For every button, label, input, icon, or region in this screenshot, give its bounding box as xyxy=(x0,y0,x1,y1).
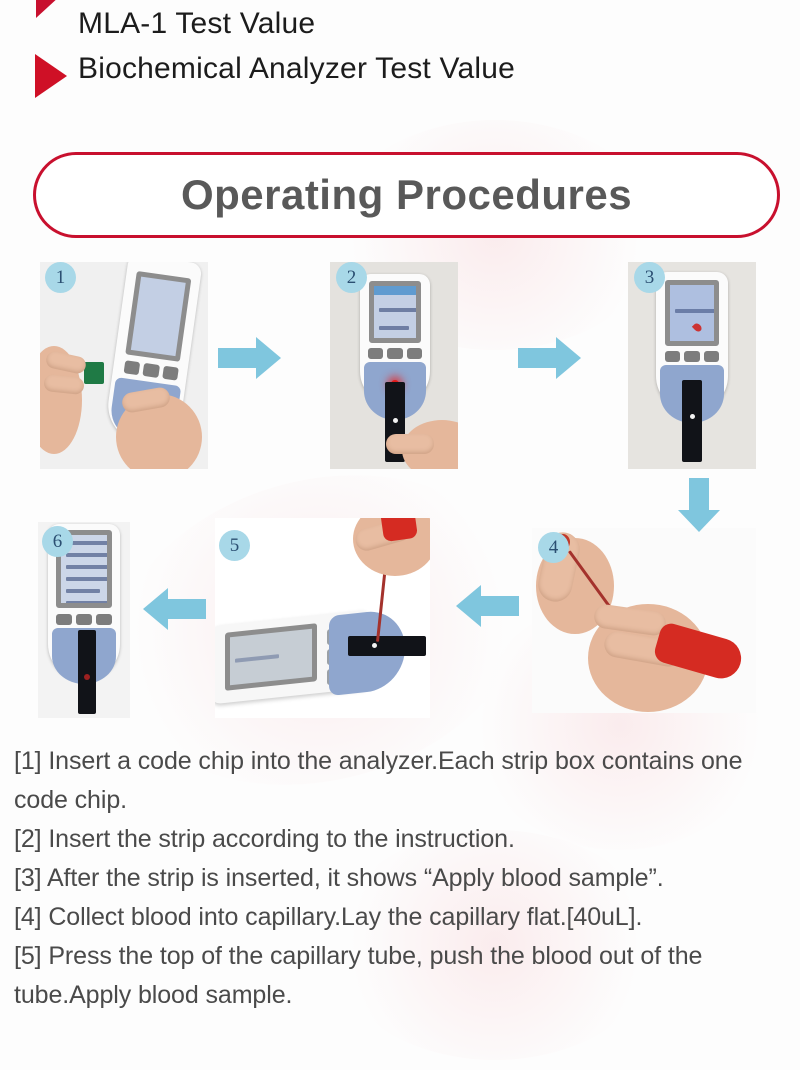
operating-procedures-page: MLA-1 Test Value Biochemical Analyzer Te… xyxy=(0,0,800,1070)
instruction-line-2: [2] Insert the strip according to the in… xyxy=(14,820,792,859)
page-title: Operating Procedures xyxy=(181,171,632,219)
page-title-pill: Operating Procedures xyxy=(33,152,780,238)
procedure-diagram: 1 xyxy=(0,250,800,730)
test-strip-inserted xyxy=(682,380,702,462)
analyzer-device-step5 xyxy=(215,614,421,700)
red-triangle-icon xyxy=(30,45,78,93)
arrow-step4-to-step5 xyxy=(455,585,519,627)
header-bullet-list: MLA-1 Test Value Biochemical Analyzer Te… xyxy=(0,0,800,115)
arrow-step5-to-step6 xyxy=(142,588,206,630)
step-badge-2: 2 xyxy=(336,262,367,293)
arrow-step2-to-step3 xyxy=(518,337,582,379)
test-strip-with-sample xyxy=(78,630,96,714)
instruction-list: [1] Insert a code chip into the analyzer… xyxy=(14,742,792,1015)
header-bullet-item-1: MLA-1 Test Value xyxy=(30,0,315,48)
step-badge-3: 3 xyxy=(634,262,665,293)
step-badge-4: 4 xyxy=(538,532,569,563)
step-2-photo xyxy=(330,262,458,469)
step-3-photo xyxy=(628,262,756,469)
arrow-step3-to-step4 xyxy=(678,478,720,534)
step-badge-1: 1 xyxy=(45,262,76,293)
step-badge-6: 6 xyxy=(42,526,73,557)
step-1-photo xyxy=(40,262,208,469)
instruction-line-3: [3] After the strip is inserted, it show… xyxy=(14,859,792,898)
step-badge-5: 5 xyxy=(219,530,250,561)
instruction-line-5: [5] Press the top of the capillary tube,… xyxy=(14,937,792,1015)
arrow-step1-to-step2 xyxy=(218,337,282,379)
instruction-line-4: [4] Collect blood into capillary.Lay the… xyxy=(14,898,792,937)
header-bullet-label-2: Biochemical Analyzer Test Value xyxy=(78,52,515,86)
header-bullet-item-2: Biochemical Analyzer Test Value xyxy=(30,45,515,93)
instruction-line-1: [1] Insert a code chip into the analyzer… xyxy=(14,742,792,820)
header-bullet-label-1: MLA-1 Test Value xyxy=(78,7,315,41)
test-strip-in-device xyxy=(348,636,426,656)
red-triangle-clipped-icon xyxy=(30,0,78,48)
code-chip-contacts xyxy=(84,362,104,384)
